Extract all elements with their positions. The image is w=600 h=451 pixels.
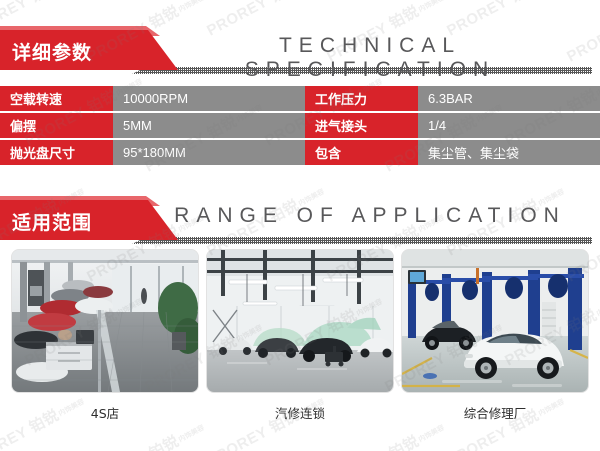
repair-chain-workshop-photo (207, 250, 393, 392)
spec-value-cell: 集尘管、集尘袋 (418, 140, 600, 165)
application-card-repair-chain: 汽修连锁 (207, 250, 393, 422)
application-caption: 综合修理厂 (402, 403, 588, 422)
spec-value-cell: 10000RPM (113, 86, 305, 111)
spec-value-cell: 1/4 (418, 113, 600, 138)
section-title-en: RANGE OF APPLICATION (150, 204, 590, 228)
halftone-strip (132, 237, 592, 244)
photo-frame (12, 250, 198, 392)
table-row: 偏摆 5MM 进气接头 1/4 (0, 113, 600, 138)
spec-value-cell: 5MM (113, 113, 305, 138)
application-photo-row: 4S店 (0, 250, 600, 422)
dealership-showroom-photo (12, 250, 198, 392)
photo-frame (207, 250, 393, 392)
spec-label-cell: 抛光盘尺寸 (0, 140, 113, 165)
section-header-technical: 详细参数 TECHNICAL SPECIFICATION (0, 26, 600, 74)
spec-label-cell: 进气接头 (305, 113, 418, 138)
section-title-cn: 适用范围 (12, 208, 92, 235)
table-row: 空载转速 10000RPM 工作压力 6.3BAR (0, 86, 600, 111)
section-header-application: 适用范围 RANGE OF APPLICATION (0, 196, 600, 244)
application-card-general-repair: 综合修理厂 (402, 250, 588, 422)
spec-label-cell: 工作压力 (305, 86, 418, 111)
section-title-cn: 详细参数 (12, 38, 92, 65)
photo-frame (402, 250, 588, 392)
application-card-dealership: 4S店 (12, 250, 198, 422)
spec-label-cell: 包含 (305, 140, 418, 165)
spec-label-cell: 偏摆 (0, 113, 113, 138)
spec-value-cell: 95*180MM (113, 140, 305, 165)
table-row: 抛光盘尺寸 95*180MM 包含 集尘管、集尘袋 (0, 140, 600, 165)
specification-table: 空载转速 10000RPM 工作压力 6.3BAR 偏摆 5MM 进气接头 1/… (0, 86, 600, 167)
spec-value-cell: 6.3BAR (418, 86, 600, 111)
general-repair-shop-photo (402, 250, 588, 392)
section-title-en: TECHNICAL SPECIFICATION (150, 34, 590, 82)
spec-label-cell: 空载转速 (0, 86, 113, 111)
application-caption: 4S店 (12, 403, 198, 422)
application-caption: 汽修连锁 (207, 403, 393, 422)
